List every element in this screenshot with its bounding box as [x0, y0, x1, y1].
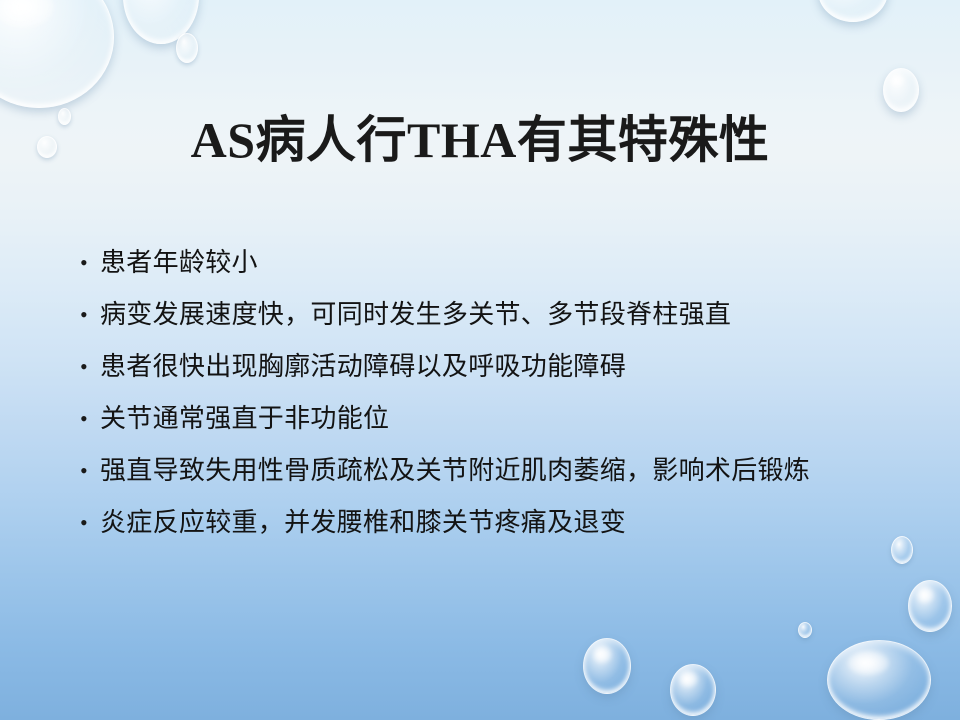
bubble-highlight — [0, 0, 54, 28]
bubble-shell — [583, 638, 631, 694]
water-droplet-topright-upper — [818, 0, 888, 22]
bubble-shell — [176, 33, 198, 63]
bullet-marker-icon: • — [80, 243, 100, 283]
water-droplet-bottom-mid-b — [670, 664, 716, 716]
bubble-shell — [123, 0, 199, 44]
bullet-marker-icon: • — [80, 295, 100, 335]
list-item: • 强直导致失用性骨质疏松及关节附近肌肉萎缩，影响术后锻炼 — [80, 451, 920, 503]
list-item: • 关节通常强直于非功能位 — [80, 399, 920, 451]
bullet-marker-icon: • — [80, 503, 100, 543]
bullet-text: 患者很快出现胸廓活动障碍以及呼吸功能障碍 — [100, 347, 920, 387]
list-item: • 病变发展速度快，可同时发生多关节、多节段脊柱强直 — [80, 295, 920, 347]
bubble-highlight — [679, 671, 697, 687]
bubble-highlight — [848, 651, 890, 675]
water-droplet-topleft-upper — [123, 0, 199, 44]
bubble-shell — [798, 622, 812, 638]
list-item: • 患者很快出现胸廓活动障碍以及呼吸功能障碍 — [80, 347, 920, 399]
bubble-shell — [670, 664, 716, 716]
bullet-text: 强直导致失用性骨质疏松及关节附近肌肉萎缩，影响术后锻炼 — [100, 451, 920, 491]
water-droplet-bottom-mid-a — [583, 638, 631, 694]
bubble-highlight — [890, 74, 904, 87]
list-item: • 患者年龄较小 — [80, 243, 920, 295]
water-droplet-bottomright-upper — [908, 580, 952, 632]
bubble-highlight — [593, 646, 612, 663]
bubble-shell — [908, 580, 952, 632]
bullet-text: 患者年龄较小 — [100, 243, 920, 283]
bullet-marker-icon: • — [80, 347, 100, 387]
water-droplet-bottomright-blob — [827, 640, 931, 720]
water-droplet-small-topleft — [176, 33, 198, 63]
slide-bullet-list: • 患者年龄较小 • 病变发展速度快，可同时发生多关节、多节段脊柱强直 • 患者… — [80, 243, 920, 555]
water-droplet-large-topleft — [0, 0, 114, 108]
bullet-marker-icon: • — [80, 399, 100, 439]
bullet-text: 关节通常强直于非功能位 — [100, 399, 920, 439]
bubble-highlight — [917, 587, 935, 603]
water-droplet-bottomright-tiny — [798, 622, 812, 638]
bubble-shell — [818, 0, 888, 22]
bullet-text: 病变发展速度快，可同时发生多关节、多节段脊柱强直 — [100, 295, 920, 335]
bubble-shell — [883, 68, 919, 112]
water-droplet-topright-small — [883, 68, 919, 112]
presentation-slide: AS病人行THA有其特殊性 • 患者年龄较小 • 病变发展速度快，可同时发生多关… — [0, 0, 960, 720]
bullet-marker-icon: • — [80, 451, 100, 491]
slide-title: AS病人行THA有其特殊性 — [191, 112, 770, 168]
bubble-shell — [827, 640, 931, 720]
bubble-shell — [0, 0, 114, 108]
bullet-text: 炎症反应较重，并发腰椎和膝关节疼痛及退变 — [100, 503, 920, 543]
slide-title-container: AS病人行THA有其特殊性 — [0, 112, 960, 168]
list-item: • 炎症反应较重，并发腰椎和膝关节疼痛及退变 — [80, 503, 920, 555]
